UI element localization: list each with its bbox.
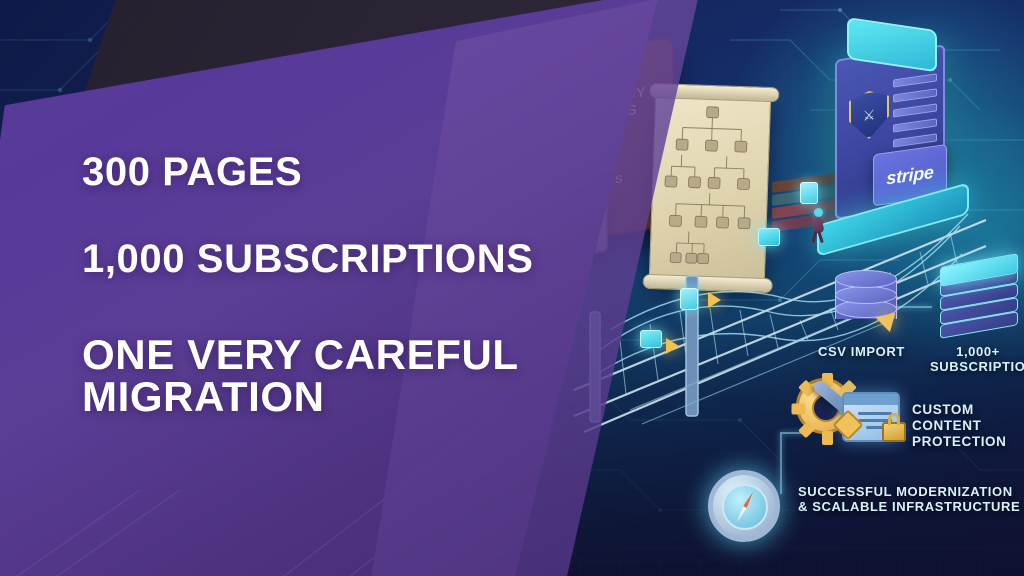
promo-banner: aMember GENEALOGY ARCHIVES 17 YEARS (0, 0, 1024, 576)
data-packet-icon (640, 330, 662, 348)
modernization-line1: SUCCESSFUL MODERNIZATION (798, 484, 1020, 499)
headline-line-2: 1,000 SUBSCRIPTIONS (82, 239, 602, 280)
connector-line (780, 434, 782, 494)
transfer-arrow-icon (708, 292, 721, 308)
headline-line-1: 300 PAGES (82, 152, 602, 193)
migration-worker (810, 208, 826, 238)
headline-line-3: ONE VERY CAREFUL MIGRATION (82, 334, 602, 420)
feature-label-csv-import: CSV IMPORT (818, 344, 905, 359)
headline-group: 300 PAGES 1,000 SUBSCRIPTIONS ONE VERY C… (82, 152, 602, 419)
document-packet-icon (800, 182, 818, 204)
feature-label-modernization: SUCCESSFUL MODERNIZATION & SCALABLE INFR… (798, 484, 1020, 515)
lock-shackle-icon (888, 413, 900, 425)
data-packet-icon (758, 228, 780, 246)
feature-label-content-protection: CUSTOM CONTENT PROTECTION (912, 402, 1024, 450)
subscriptions-count: 1,000+ (930, 344, 1024, 359)
lock-icon (882, 422, 906, 442)
modernization-line2: & SCALABLE INFRASTRUCTURE (798, 499, 1020, 514)
database-icon (835, 270, 897, 328)
content-protection-line1: CUSTOM CONTENT (912, 402, 1024, 434)
feature-label-subscriptions: 1,000+ SUBSCRIPTIONS (930, 344, 1024, 375)
document-packet-icon (680, 288, 698, 310)
compass-icon (708, 470, 780, 542)
transfer-arrow-icon (666, 338, 679, 354)
subscriptions-word: SUBSCRIPTIONS (930, 359, 1024, 374)
shield-icon: ⚔ (849, 88, 889, 142)
stack-icon (940, 262, 1018, 332)
content-protection-line2: PROTECTION (912, 434, 1024, 450)
